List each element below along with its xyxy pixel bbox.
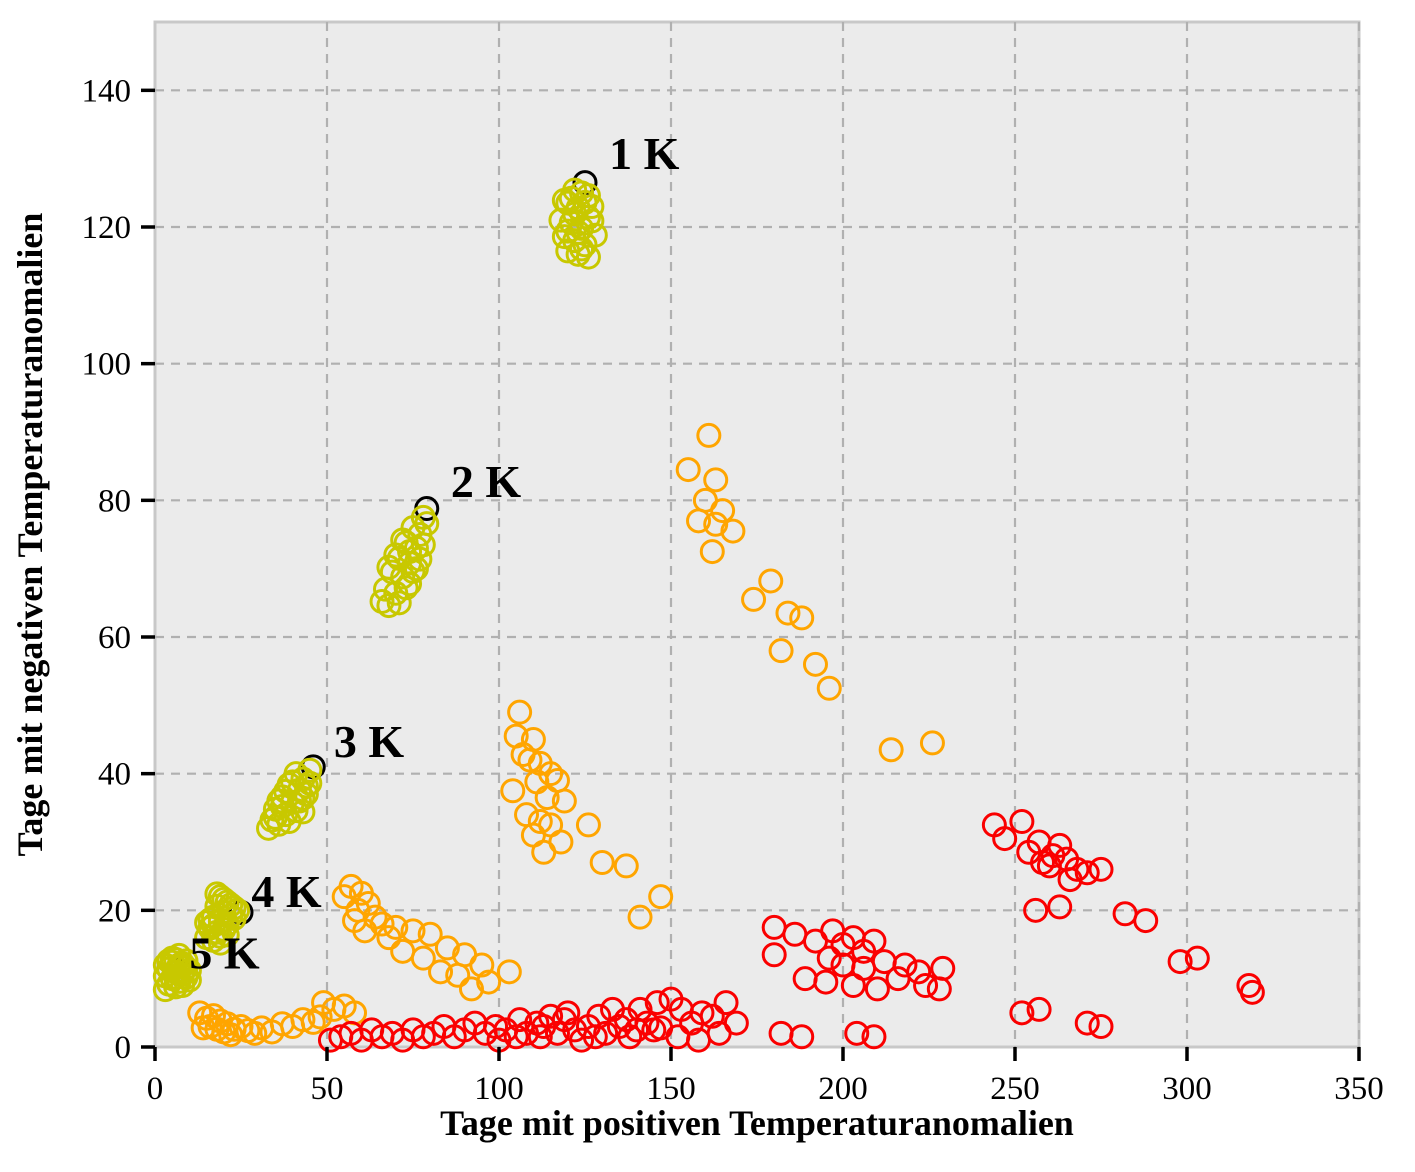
x-tick-label: 0	[147, 1071, 164, 1107]
cluster-label-1k: 1 K	[609, 128, 680, 179]
y-tick-label: 100	[82, 347, 132, 383]
x-tick-label: 50	[311, 1071, 344, 1107]
chart-figure: 1 K2 K3 K4 K5 K0501001502002503003500204…	[0, 0, 1415, 1172]
cluster-label-5k: 5 K	[189, 928, 260, 979]
cluster-label-2k: 2 K	[451, 456, 521, 507]
x-tick-label: 100	[474, 1071, 524, 1107]
y-tick-label: 80	[98, 483, 131, 519]
x-tick-label: 200	[818, 1071, 868, 1107]
x-tick-label: 350	[1334, 1071, 1384, 1107]
x-tick-label: 150	[646, 1071, 696, 1107]
y-tick-label: 0	[115, 1030, 132, 1066]
y-axis-title: Tage mit negativen Temperaturanomalien	[10, 213, 50, 857]
y-axis: 020406080100120140	[82, 73, 156, 1066]
x-tick-label: 250	[990, 1071, 1040, 1107]
x-axis-title: Tage mit positiven Temperaturanomalien	[440, 1103, 1074, 1143]
series-cluster-1K	[550, 179, 606, 268]
plot-area-background	[155, 22, 1359, 1047]
y-tick-label: 60	[98, 620, 131, 656]
y-tick-label: 40	[98, 757, 131, 793]
cluster-label-3k: 3 K	[334, 716, 405, 767]
y-tick-label: 20	[98, 893, 131, 929]
x-tick-label: 300	[1162, 1071, 1212, 1107]
cluster-label-4k: 4 K	[251, 866, 322, 917]
x-axis: 050100150200250300350	[147, 1047, 1384, 1107]
scatter-plot: 1 K2 K3 K4 K5 K0501001502002503003500204…	[0, 0, 1415, 1172]
y-tick-label: 120	[82, 210, 132, 246]
y-tick-label: 140	[82, 73, 132, 109]
